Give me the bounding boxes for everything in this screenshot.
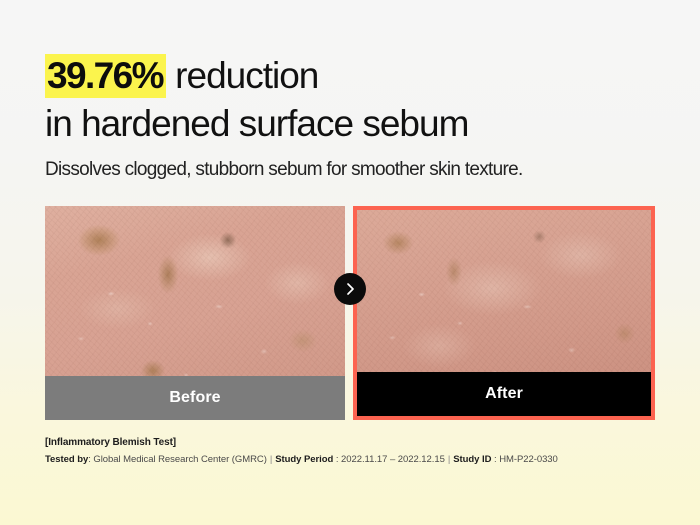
study-footnote: [Inflammatory Blemish Test] Tested by: G… <box>45 435 665 468</box>
study-id-label: Study ID <box>453 454 491 465</box>
separator-2: | <box>445 454 453 465</box>
colon-2: : <box>336 454 339 465</box>
subheadline: Dissolves clogged, stubborn sebum for sm… <box>45 157 523 183</box>
before-label: Before <box>169 389 220 407</box>
after-label-bar: After <box>357 372 651 416</box>
colon-3: : <box>494 454 497 465</box>
result-card: 39.76% reduction in hardened surface seb… <box>0 0 700 525</box>
separator-1: | <box>267 454 275 465</box>
colon-1: : <box>88 454 91 465</box>
before-after-comparison: Before After <box>45 206 655 420</box>
study-meta-line: Tested by: Global Medical Research Cente… <box>45 452 665 468</box>
before-label-bar: Before <box>45 376 345 420</box>
headline-line-1: 39.76% reduction <box>45 52 665 100</box>
after-label: After <box>485 385 523 403</box>
tested-by-value: Global Medical Research Center (GMRC) <box>93 454 266 465</box>
headline-block: 39.76% reduction in hardened surface seb… <box>45 52 665 148</box>
stat-percentage: 39.76% <box>45 54 166 98</box>
headline-line-2: in hardened surface sebum <box>45 100 665 148</box>
headline-reduction-word: reduction <box>166 55 319 96</box>
study-period-label: Study Period <box>275 454 333 465</box>
chevron-right-icon[interactable] <box>334 273 366 305</box>
study-period-value: 2022.11.17 – 2022.12.15 <box>341 454 445 465</box>
before-panel[interactable]: Before <box>45 206 345 420</box>
test-title: [Inflammatory Blemish Test] <box>45 435 665 450</box>
study-id-value: HM-P22-0330 <box>499 454 558 465</box>
after-panel[interactable]: After <box>353 206 655 420</box>
tested-by-label: Tested by <box>45 454 88 465</box>
